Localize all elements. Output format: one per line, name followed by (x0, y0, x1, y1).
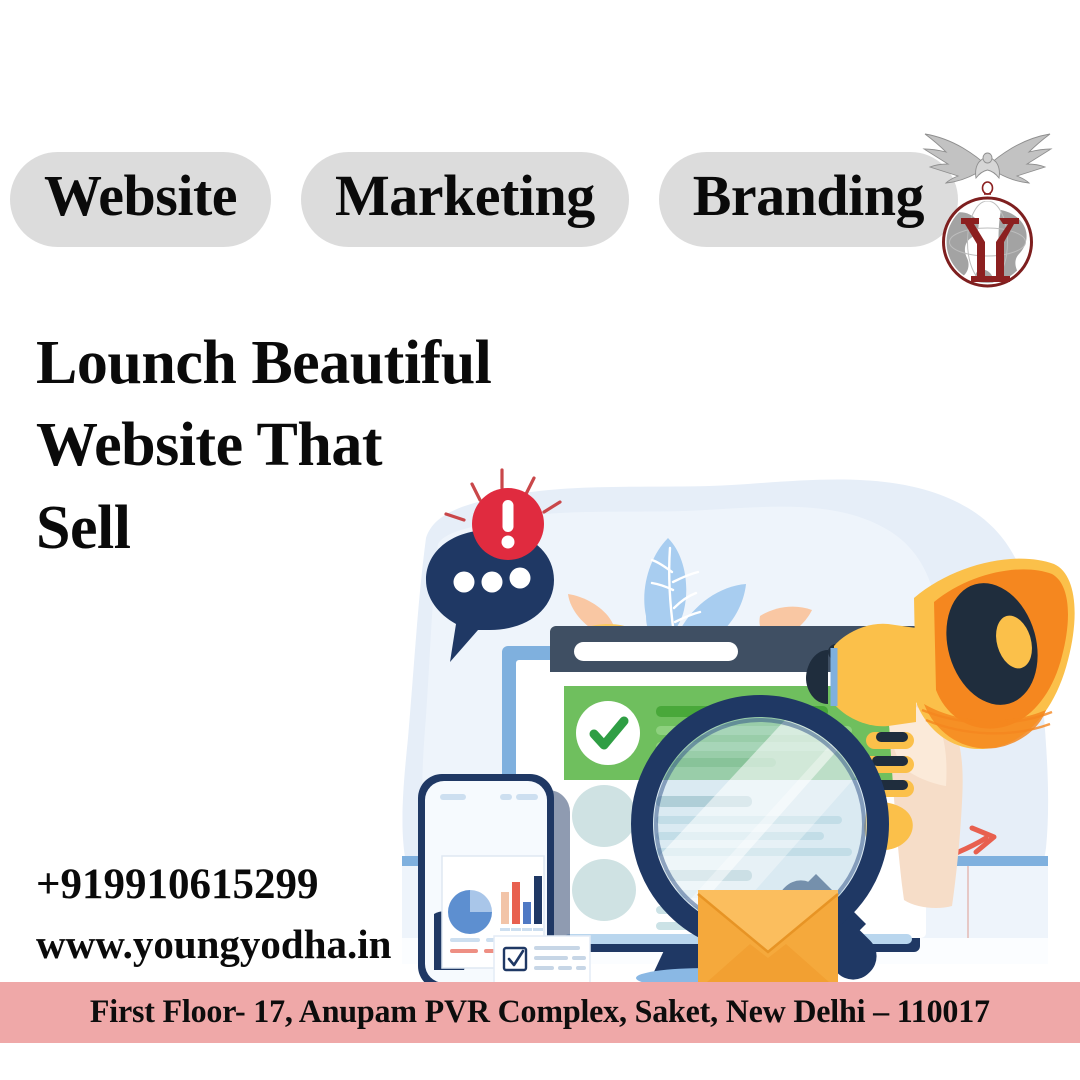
headline-line-2: Website That (36, 404, 491, 486)
headline-line-3: Sell (36, 487, 491, 569)
service-pill-website[interactable]: Website (10, 152, 271, 247)
service-pill-marketing[interactable]: Marketing (301, 152, 629, 247)
headline-line-1: Lounch Beautiful (36, 322, 491, 404)
address-field (574, 642, 738, 661)
website-url[interactable]: www.youngyodha.in (36, 918, 391, 970)
globe-medallion (944, 198, 1032, 290)
service-pill-row: Website Marketing Branding (10, 152, 958, 247)
address-text: First Floor- 17, Anupam PVR Complex, Sak… (90, 994, 990, 1031)
eagle-icon (924, 134, 1051, 183)
checkbox-card (494, 936, 590, 986)
smartphone-dashboard (418, 774, 590, 986)
pie-chart (448, 890, 492, 934)
megaphone-handle-body (834, 624, 916, 727)
contact-block: +919910615299 www.youngyodha.in (36, 857, 391, 971)
envelope (698, 890, 838, 986)
poster-canvas: Website Marketing Branding (0, 0, 1080, 1080)
address-bar: First Floor- 17, Anupam PVR Complex, Sak… (0, 982, 1080, 1043)
page-title: Lounch Beautiful Website That Sell (36, 322, 491, 569)
logo-ring (983, 182, 993, 194)
checkmark-badge (576, 701, 640, 765)
brand-logo[interactable] (905, 118, 1070, 293)
phone-number[interactable]: +919910615299 (36, 857, 391, 912)
